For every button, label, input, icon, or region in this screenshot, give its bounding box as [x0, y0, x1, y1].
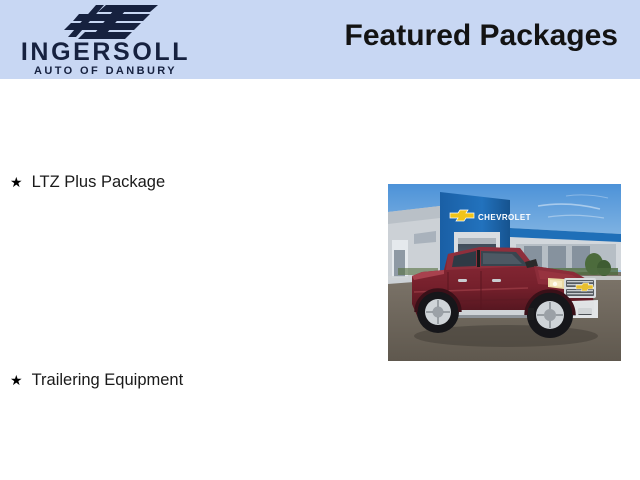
logo-tagline: AUTO OF DANBURY: [8, 65, 203, 78]
dealer-logo: INGERSOLL AUTO OF DANBURY: [8, 2, 203, 78]
list-item: ★ LTZ Plus Package: [10, 172, 165, 192]
star-bullet-icon: ★: [10, 370, 23, 390]
list-item-label: LTZ Plus Package: [32, 172, 166, 192]
ingersoll-wing-emblem-icon: [46, 3, 166, 39]
page-title: Featured Packages: [345, 19, 618, 53]
list-item: ★ Trailering Equipment: [10, 370, 183, 390]
star-bullet-icon: ★: [10, 172, 23, 192]
logo-wordmark: INGERSOLL: [8, 39, 203, 65]
list-item-label: Trailering Equipment: [32, 370, 184, 390]
dealer-sign-text: CHEVROLET: [478, 213, 531, 222]
featured-packages-list: ★ LTZ Plus Package ★ Trailering Equipmen…: [0, 79, 380, 480]
vehicle-photo: CHEVROLET: [388, 184, 621, 361]
